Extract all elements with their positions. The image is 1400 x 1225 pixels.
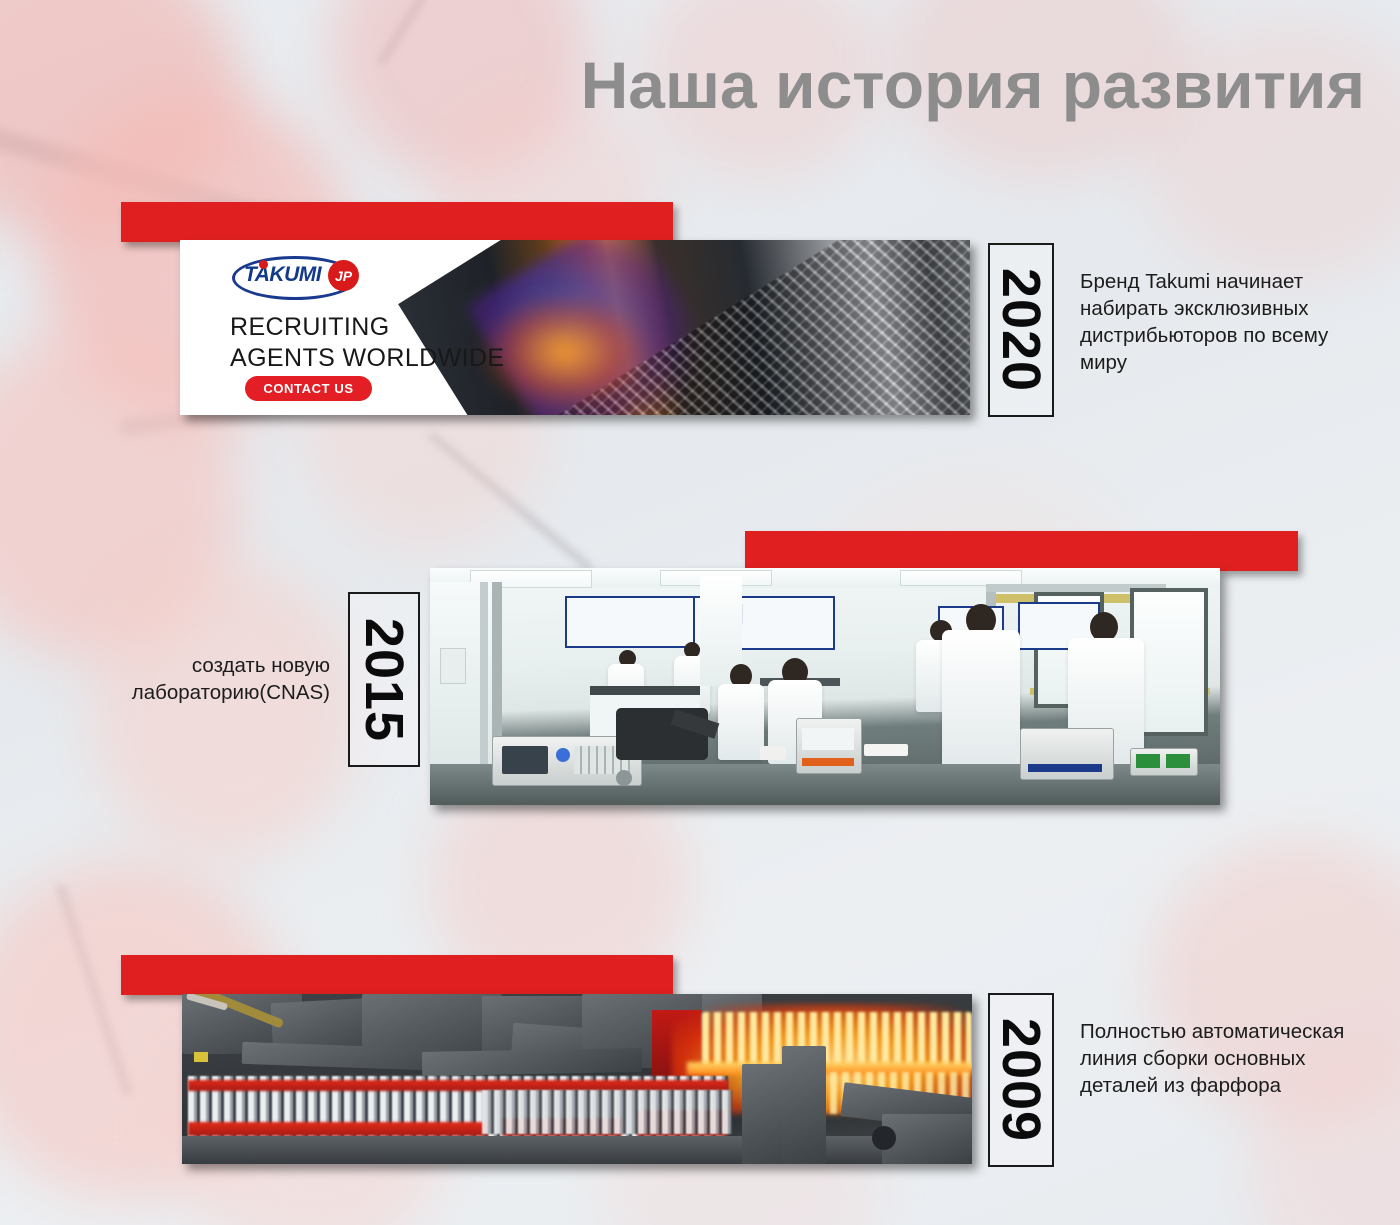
lab-instrument-right bbox=[1020, 728, 1114, 780]
photo-2015-laboratory bbox=[430, 568, 1220, 805]
banner-glow bbox=[480, 292, 650, 412]
takumi-logo: TAKUMI JP bbox=[232, 252, 382, 300]
slide-canvas: Наша история развития TAKUMI JP RECRUITI… bbox=[0, 0, 1400, 1225]
accent-bar-2015 bbox=[745, 531, 1298, 571]
year-label-2009: 2009 bbox=[994, 1018, 1048, 1142]
year-badge-2015: 2015 bbox=[348, 592, 420, 767]
page-title: Наша история развития bbox=[0, 52, 1365, 118]
year-label-2015: 2015 bbox=[357, 617, 411, 741]
banner-headline: RECRUITING AGENTS WORLDWIDE bbox=[230, 312, 504, 373]
banner-headline-line1: RECRUITING bbox=[230, 312, 504, 343]
logo-red-dot-icon bbox=[259, 260, 268, 269]
logo-wordmark: TAKUMI bbox=[244, 264, 321, 285]
photo-2009-assembly-line bbox=[182, 994, 972, 1164]
year-badge-2020: 2020 bbox=[988, 243, 1054, 417]
accent-bar-2009 bbox=[121, 955, 673, 995]
description-2020: Бренд Takumi начинает набирать эксклюзив… bbox=[1080, 268, 1380, 376]
accent-bar-2020 bbox=[121, 202, 673, 242]
year-label-2020: 2020 bbox=[994, 268, 1048, 392]
logo-jp-badge: JP bbox=[328, 260, 359, 291]
lab-board-left bbox=[565, 596, 697, 648]
year-badge-2009: 2009 bbox=[988, 993, 1054, 1167]
banner-headline-line2: AGENTS WORLDWIDE bbox=[230, 343, 504, 374]
contact-us-button[interactable]: CONTACT US bbox=[245, 376, 372, 401]
description-2009: Полностью автоматическая линия сборки ос… bbox=[1080, 1018, 1380, 1099]
description-2015: создать новую лабораторию(CNAS) bbox=[40, 652, 330, 706]
photo-2020-takumi-banner: TAKUMI JP RECRUITING AGENTS WORLDWIDE CO… bbox=[180, 240, 970, 415]
